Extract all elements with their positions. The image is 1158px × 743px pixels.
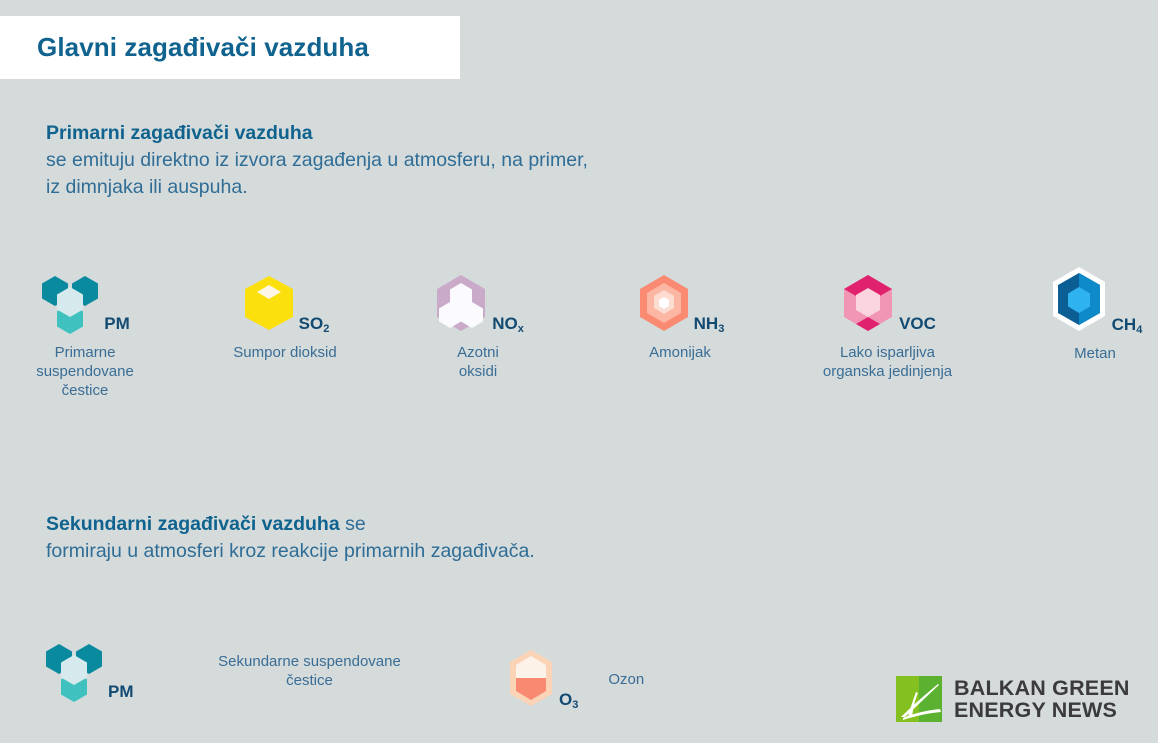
primary-section-body: se emituju direktno iz izvora zagađenja … xyxy=(46,149,588,198)
so2-description: Sumpor dioksid xyxy=(212,343,358,362)
secondary-section-body-a: se xyxy=(340,513,366,535)
primary-section-lead: Primarni zagađivači vazduha xyxy=(46,122,313,144)
pollutant-nh3: NH3 Amonijak xyxy=(607,272,753,362)
o3-icon-line: O3 xyxy=(505,648,578,710)
nh3-formula: NH3 xyxy=(694,314,725,334)
ch4-icon-line: CH4 xyxy=(1022,265,1158,335)
hexagon-wedges-voc-icon xyxy=(839,272,897,334)
secondary-section-lead: Sekundarni zagađivači vazduha xyxy=(46,513,340,535)
logo-mark-icon xyxy=(896,676,942,722)
pollutant-nox: NOx Azotni oksidi xyxy=(405,272,551,381)
nox-formula: NOx xyxy=(492,314,524,334)
hexagon-cluster-pm-icon xyxy=(44,640,106,702)
pollutant-pm-primary: PM Primarne suspendovane čestice xyxy=(12,272,158,400)
pollutant-ch4: CH4 Metan xyxy=(1022,265,1158,363)
logo-line-2: ENERGY NEWS xyxy=(954,699,1130,721)
secondary-section-intro: Sekundarni zagađivači vazduha se formira… xyxy=(46,511,535,565)
voc-formula: VOC xyxy=(899,314,936,334)
pm-icon-line: PM xyxy=(12,272,158,334)
hexagon-split-ch4-icon xyxy=(1048,265,1110,335)
hexagon-halfsplit-o3-icon xyxy=(505,648,557,710)
so2-icon-line: SO2 xyxy=(212,272,358,334)
pm-formula: PM xyxy=(104,314,130,334)
pm-secondary-formula: PM xyxy=(108,682,134,702)
nox-icon-line: NOx xyxy=(405,272,551,334)
header-banner: Glavni zagađivači vazduha xyxy=(0,16,460,79)
ch4-description: Metan xyxy=(1022,344,1158,363)
infographic-page: Glavni zagađivači vazduha Primarni zagađ… xyxy=(0,0,1158,743)
ch4-formula: CH4 xyxy=(1112,315,1143,335)
logo-line-1: BALKAN GREEN xyxy=(954,677,1130,699)
balkan-green-energy-news-logo[interactable]: BALKAN GREEN ENERGY NEWS xyxy=(896,676,1130,722)
hexagon-cluster-pm-icon xyxy=(40,272,102,334)
pollutant-o3: O3 Ozon xyxy=(505,648,644,710)
pm-description: Primarne suspendovane čestice xyxy=(12,343,158,400)
hexagon-diamond-so2-icon xyxy=(241,272,297,334)
pollutant-so2: SO2 Sumpor dioksid xyxy=(212,272,358,362)
primary-section-intro: Primarni zagađivači vazduha se emituju d… xyxy=(46,120,588,201)
secondary-section-body-b: formiraju u atmosferi kroz reakcije prim… xyxy=(46,540,535,562)
o3-description: Ozon xyxy=(608,670,644,689)
voc-icon-line: VOC xyxy=(800,272,975,334)
nox-description: Azotni oksidi xyxy=(405,343,551,381)
voc-description: Lako isparljiva organska jedinjenja xyxy=(800,343,975,381)
o3-formula: O3 xyxy=(559,690,578,710)
logo-wordmark: BALKAN GREEN ENERGY NEWS xyxy=(954,677,1130,721)
pm-secondary-description: Sekundarne suspendovane čestice xyxy=(190,652,430,690)
hexagon-concentric-nh3-icon xyxy=(636,272,692,334)
pollutant-voc: VOC Lako isparljiva organska jedinjenja xyxy=(800,272,975,381)
so2-formula: SO2 xyxy=(299,314,330,334)
pm-secondary-icon-line: PM xyxy=(44,640,134,702)
hexagon-triple-nox-icon xyxy=(432,272,490,334)
nh3-icon-line: NH3 xyxy=(607,272,753,334)
nh3-description: Amonijak xyxy=(607,343,753,362)
pollutant-pm-secondary: PM Sekundarne suspendovane čestice xyxy=(44,640,430,702)
page-title: Glavni zagađivači vazduha xyxy=(37,32,369,63)
